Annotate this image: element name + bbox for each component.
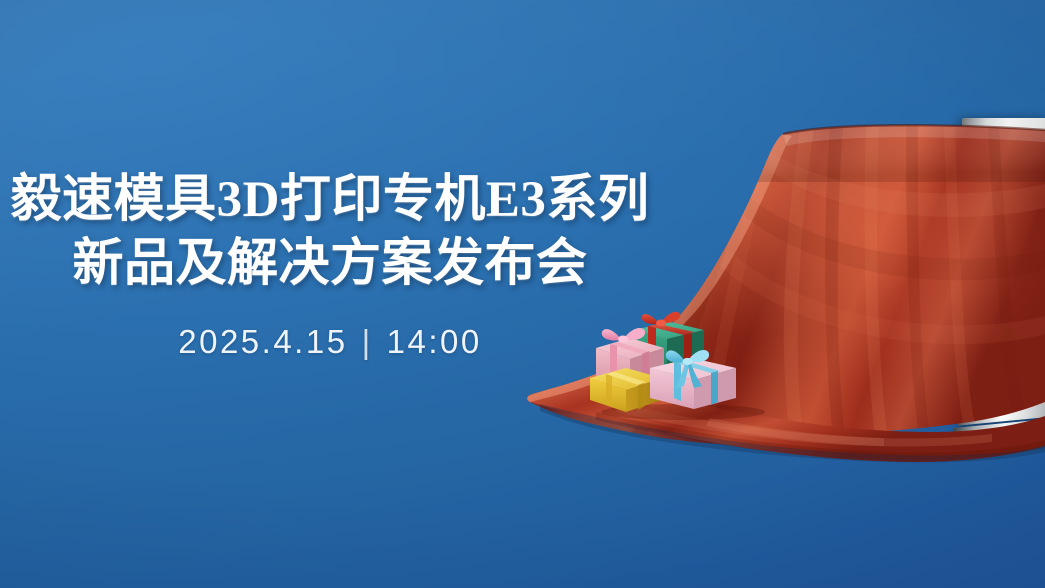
event-banner: 毅速模具3D打印专机E3系列 新品及解决方案发布会 2025.4.15|14:0… xyxy=(0,0,1045,588)
gift-box-stack xyxy=(588,306,778,418)
